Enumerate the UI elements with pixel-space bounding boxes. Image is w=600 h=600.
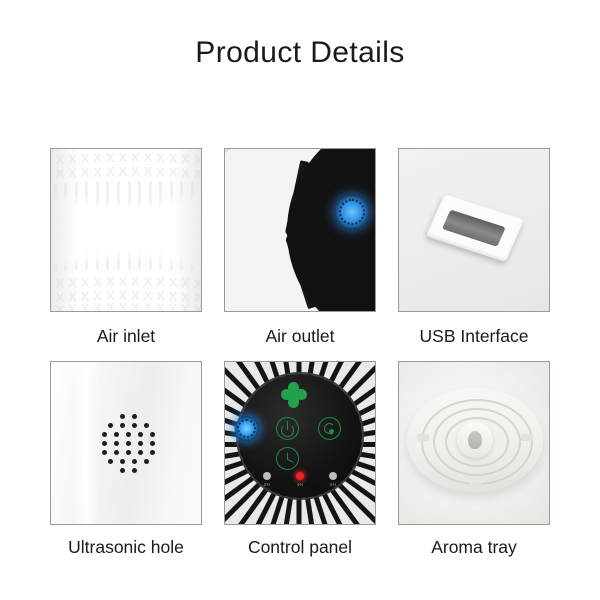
air-inlet-band (50, 243, 202, 269)
air-inlet-x-glyph: X (56, 303, 65, 312)
air-inlet-bar-glyph (149, 243, 152, 269)
air-inlet-bar-glyph (149, 181, 152, 207)
air-inlet-x-glyph: X (169, 152, 178, 165)
mist-button[interactable] (318, 417, 341, 440)
air-inlet-x-glyph: X (181, 302, 190, 312)
air-inlet-x-glyph: X (93, 301, 102, 312)
air-inlet-x-glyph: X (156, 227, 165, 240)
air-inlet-x-glyph: X (131, 151, 140, 164)
air-inlet-x-glyph: X (106, 213, 115, 226)
product-details-grid: XXXXXXXXXXXXXXXXXXXXXXXXXXXXXXXXXXXXXXXX… (0, 148, 600, 558)
air-inlet-x-glyph: X (144, 301, 153, 312)
air-inlet-x-glyph: X (50, 230, 52, 243)
aroma-tray-notch-right (521, 434, 533, 441)
air-inlet-x-glyph: X (131, 165, 140, 178)
air-inlet-x-glyph: X (169, 276, 178, 289)
air-inlet-x-glyph: X (81, 166, 90, 179)
air-inlet-x-glyph: X (106, 275, 115, 288)
ultrasonic-hole-dot (138, 450, 143, 455)
ultrasonic-hole-dot (126, 441, 131, 446)
air-inlet-bar-glyph (138, 181, 141, 207)
air-inlet-x-glyph: X (156, 301, 165, 312)
air-inlet-bar-glyph (106, 181, 109, 207)
ultrasonic-hole-dot (114, 432, 119, 437)
ultrasonic-hole-dot (120, 459, 125, 464)
air-inlet-x-glyph: X (181, 276, 190, 289)
detail-cell-control-panel[interactable]: 2H4H6H Control panel (224, 361, 376, 558)
ultrasonic-hole-dot (126, 432, 131, 437)
air-inlet-band (50, 181, 202, 207)
air-inlet-bar-glyph (106, 243, 109, 269)
air-inlet-x-glyph: X (181, 214, 190, 227)
air-inlet-bar-glyph (180, 244, 183, 270)
clock-icon-minute-hand (288, 459, 294, 463)
air-inlet-x-glyph: X (50, 168, 52, 181)
air-inlet-x-glyph: X (131, 227, 140, 240)
air-inlet-bar-glyph (201, 245, 202, 271)
air-inlet-x-glyph: X (118, 275, 127, 288)
air-inlet-bar-glyph (170, 182, 173, 208)
air-inlet-bar-glyph (117, 181, 120, 207)
thumbnail-air-outlet[interactable] (224, 148, 376, 312)
air-inlet-x-glyph: X (118, 165, 127, 178)
anion-indicator-icon (335, 195, 369, 229)
air-inlet-x-glyph: X (169, 228, 178, 241)
air-inlet-x-glyph: X (81, 214, 90, 227)
thumbnail-aroma-tray[interactable] (398, 361, 550, 525)
ultrasonic-hole-dot (114, 441, 119, 446)
thumbnail-control-panel[interactable]: 2H4H6H (224, 361, 376, 525)
air-inlet-x-glyph: X (93, 165, 102, 178)
air-inlet-x-glyph: X (181, 228, 190, 241)
air-inlet-x-glyph: X (144, 151, 153, 164)
air-inlet-bar-glyph (159, 181, 162, 207)
air-inlet-bar-glyph (54, 245, 57, 271)
timer-button[interactable] (276, 447, 299, 470)
air-inlet-x-glyph: X (81, 152, 90, 165)
air-inlet-bar-glyph (138, 243, 141, 269)
detail-cell-ultrasonic-hole[interactable]: Ultrasonic hole (50, 361, 202, 558)
aroma-tray-notch-left (417, 434, 429, 441)
air-inlet-x-glyph: X (156, 275, 165, 288)
ultrasonic-hole-dot (132, 468, 137, 473)
caption-air-inlet: Air inlet (97, 326, 155, 347)
aroma-tray-hub (457, 422, 493, 458)
air-inlet-x-glyph: X (106, 301, 115, 312)
air-inlet-band: XXXXXXXXXXXXXX (50, 213, 202, 226)
anion-button[interactable] (234, 416, 259, 441)
air-inlet-bar-glyph (159, 243, 162, 269)
air-inlet-bar-glyph (75, 244, 78, 270)
thumbnail-air-inlet[interactable]: XXXXXXXXXXXXXXXXXXXXXXXXXXXXXXXXXXXXXXXX… (50, 148, 202, 312)
ultrasonic-hole-dot (138, 432, 143, 437)
caption-ultrasonic-hole: Ultrasonic hole (68, 537, 184, 558)
ultrasonic-hole-dot (138, 441, 143, 446)
air-inlet-x-glyph: X (131, 213, 140, 226)
air-inlet-x-glyph: X (131, 275, 140, 288)
detail-cell-air-inlet[interactable]: XXXXXXXXXXXXXXXXXXXXXXXXXXXXXXXXXXXXXXXX… (50, 148, 202, 347)
timer-indicator-led (296, 472, 304, 480)
air-inlet-x-glyph: X (156, 213, 165, 226)
ultrasonic-hole-dot (120, 414, 125, 419)
timer-indicator: 4H (296, 472, 304, 487)
ultrasonic-hole-dot (120, 423, 125, 428)
air-inlet-bar-glyph (170, 244, 173, 270)
ultrasonic-hole-dot (114, 450, 119, 455)
ultrasonic-hole-dot (102, 432, 107, 437)
air-inlet-x-glyph: X (81, 276, 90, 289)
air-inlet-x-glyph: X (156, 165, 165, 178)
air-inlet-x-glyph: X (68, 152, 77, 165)
air-inlet-band: XXXXXXXXXXXXXX (50, 275, 202, 288)
timer-indicator-row: 2H4H6H (263, 472, 337, 487)
air-inlet-x-glyph: X (118, 227, 127, 240)
air-inlet-x-glyph: X (156, 151, 165, 164)
air-inlet-x-glyph: X (118, 151, 127, 164)
aroma-tray-notch-bottom (469, 482, 481, 489)
details-row-2: Ultrasonic hole (0, 361, 600, 558)
air-inlet-x-glyph: X (68, 228, 77, 241)
air-inlet-bar-glyph (128, 181, 131, 207)
caption-air-outlet: Air outlet (265, 326, 334, 347)
air-inlet-band: XXXXXXXXXXXXXX (50, 151, 202, 164)
air-inlet-x-glyph: X (144, 275, 153, 288)
ultrasonic-hole-dot (108, 459, 113, 464)
details-row-1: XXXXXXXXXXXXXXXXXXXXXXXXXXXXXXXXXXXXXXXX… (0, 148, 600, 347)
power-button[interactable] (276, 417, 299, 440)
thumbnail-usb-interface[interactable] (398, 148, 550, 312)
aroma-tray-disc (407, 388, 543, 492)
ultrasonic-hole-dot (102, 441, 107, 446)
detail-cell-usb-interface[interactable]: USB Interface (398, 148, 550, 347)
ultrasonic-hole-dot (102, 450, 107, 455)
ultrasonic-hole-dot (132, 423, 137, 428)
air-inlet-x-glyph: X (68, 166, 77, 179)
air-inlet-x-glyph: X (81, 302, 90, 312)
air-inlet-x-glyph: X (181, 152, 190, 165)
ultrasonic-hole-dot (126, 450, 131, 455)
air-inlet-x-glyph: X (68, 302, 77, 312)
timer-indicator-led (263, 472, 271, 480)
air-inlet-bar-glyph (117, 243, 120, 269)
ultrasonic-hole-dot (132, 414, 137, 419)
air-inlet-x-glyph: X (56, 167, 65, 180)
air-inlet-bar-glyph (96, 243, 99, 269)
fan-hub (290, 391, 298, 399)
air-inlet-x-glyph: X (194, 167, 202, 180)
air-inlet-x-glyph: X (93, 213, 102, 226)
air-inlet-band: XXXXXXXXXXXXXX (50, 227, 202, 240)
air-inlet-bar-glyph (191, 183, 194, 209)
ultrasonic-hole-dot-field (93, 414, 159, 476)
air-inlet-x-glyph: X (118, 213, 127, 226)
air-inlet-band: XXXXXXXXXXXXXX (50, 165, 202, 178)
ultrasonic-hole-dot (144, 459, 149, 464)
air-inlet-x-glyph: X (56, 229, 65, 242)
ultrasonic-hole-dot (144, 423, 149, 428)
air-inlet-x-glyph: X (131, 301, 140, 312)
air-inlet-bar-glyph (54, 183, 57, 209)
air-inlet-x-glyph: X (181, 166, 190, 179)
caption-aroma-tray: Aroma tray (431, 537, 517, 558)
air-inlet-band: XXXXXXXXXXXXXX (50, 301, 202, 312)
air-inlet-x-glyph: X (144, 213, 153, 226)
ultrasonic-hole-dot (150, 441, 155, 446)
air-inlet-bar-glyph (128, 243, 131, 269)
detail-cell-aroma-tray[interactable]: Aroma tray (398, 361, 550, 558)
air-inlet-bar-glyph (64, 183, 67, 209)
timer-indicator-label: 2H (264, 482, 270, 487)
air-inlet-x-glyph: X (93, 227, 102, 240)
timer-indicator-led (329, 472, 337, 480)
ultrasonic-hole-dot (120, 468, 125, 473)
air-inlet-x-glyph: X (169, 214, 178, 227)
air-inlet-x-glyph: X (144, 227, 153, 240)
air-inlet-x-glyph: X (169, 166, 178, 179)
ultrasonic-hole-dot (150, 450, 155, 455)
timer-indicator: 2H (263, 472, 271, 487)
air-inlet-x-glyph: X (106, 165, 115, 178)
usb-port-slot (442, 210, 506, 247)
caption-usb-interface: USB Interface (420, 326, 529, 347)
air-inlet-bar-glyph (64, 245, 67, 271)
air-inlet-x-glyph: X (194, 229, 202, 242)
thumbnail-ultrasonic-hole[interactable] (50, 361, 202, 525)
air-inlet-x-glyph: X (93, 151, 102, 164)
ultrasonic-hole-dot (132, 459, 137, 464)
air-inlet-x-glyph: X (106, 227, 115, 240)
air-inlet-bar-glyph (85, 182, 88, 208)
timer-indicator-label: 4H (297, 482, 303, 487)
air-inlet-x-glyph: X (50, 304, 52, 312)
air-inlet-x-glyph: X (68, 214, 77, 227)
fan-icon (281, 382, 307, 408)
air-inlet-bar-glyph (191, 245, 194, 271)
air-inlet-x-glyph: X (81, 228, 90, 241)
air-inlet-x-glyph: X (194, 303, 202, 312)
aroma-tray-center-hole (468, 431, 482, 449)
air-inlet-x-glyph: X (106, 151, 115, 164)
air-inlet-bar-glyph (75, 182, 78, 208)
air-inlet-x-glyph: X (118, 301, 127, 312)
timer-indicator: 6H (329, 472, 337, 487)
air-inlet-x-glyph: X (144, 165, 153, 178)
air-inlet-bar-glyph (96, 181, 99, 207)
air-inlet-x-glyph: X (93, 275, 102, 288)
product-details-page: Product Details XXXXXXXXXXXXXXXXXXXXXXXX… (0, 0, 600, 600)
power-icon-stem (287, 421, 289, 430)
page-title: Product Details (0, 36, 600, 70)
detail-cell-air-outlet[interactable]: Air outlet (224, 148, 376, 347)
air-inlet-x-glyph: X (68, 276, 77, 289)
caption-control-panel: Control panel (248, 537, 352, 558)
timer-indicator-label: 6H (330, 482, 336, 487)
air-inlet-bar-glyph (85, 244, 88, 270)
ultrasonic-hole-dot (108, 423, 113, 428)
air-inlet-bar-glyph (201, 183, 202, 209)
ultrasonic-hole-dot (150, 432, 155, 437)
air-inlet-bar-glyph (180, 182, 183, 208)
air-inlet-x-glyph: X (169, 302, 178, 312)
